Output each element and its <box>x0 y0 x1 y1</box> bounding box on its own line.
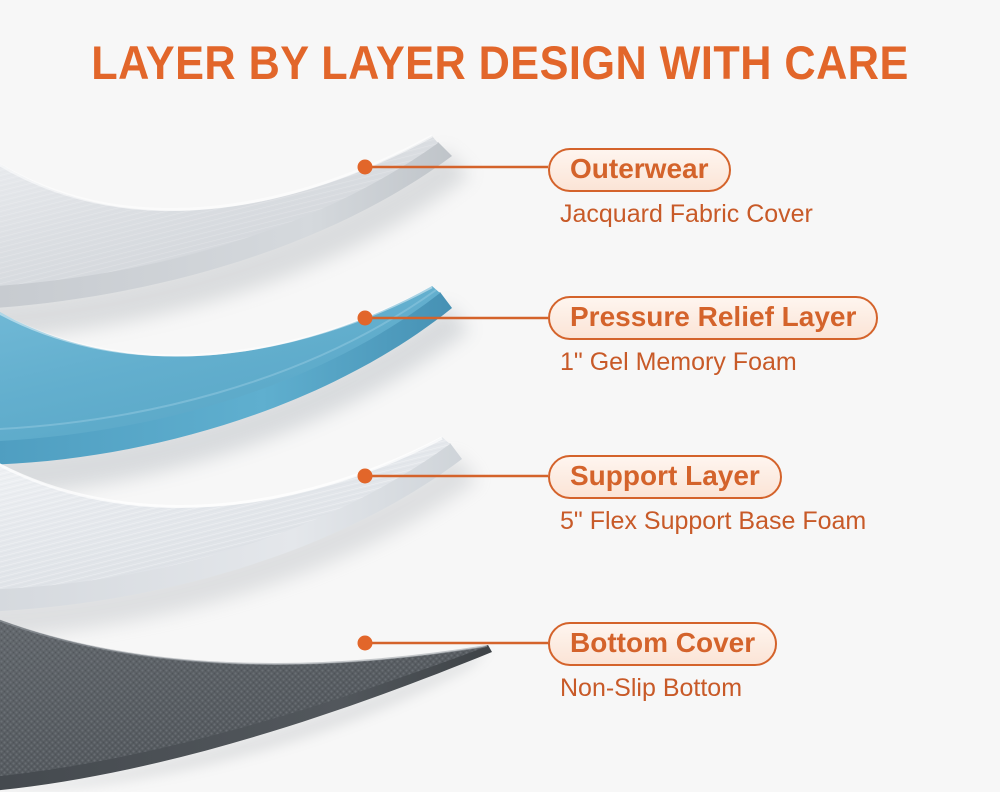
callout-bottom-cover: Bottom Cover Non-Slip Bottom <box>548 622 777 703</box>
leader-dot-4 <box>358 636 373 651</box>
callout-caption-pressure-relief-layer: 1" Gel Memory Foam <box>560 347 878 377</box>
callout-label-outerwear: Outerwear <box>548 148 731 192</box>
callout-caption-support-layer: 5" Flex Support Base Foam <box>560 506 866 536</box>
callout-caption-outerwear: Jacquard Fabric Cover <box>560 199 813 229</box>
non-slip-bottom-layer <box>0 612 492 792</box>
callout-label-pressure-relief-layer: Pressure Relief Layer <box>548 296 878 340</box>
callout-label-bottom-cover: Bottom Cover <box>548 622 777 666</box>
leader-lines <box>358 160 549 651</box>
leader-dot-1 <box>358 160 373 175</box>
mattress-layer-illustration <box>0 0 1000 792</box>
callout-pressure-relief-layer: Pressure Relief Layer 1" Gel Memory Foam <box>548 296 878 377</box>
leader-dot-2 <box>358 311 373 326</box>
callout-label-support-layer: Support Layer <box>548 455 782 499</box>
infographic-canvas: LAYER BY LAYER DESIGN WITH CARE <box>0 0 1000 792</box>
callout-outerwear: Outerwear Jacquard Fabric Cover <box>548 148 813 229</box>
callout-support-layer: Support Layer 5" Flex Support Base Foam <box>548 455 866 536</box>
leader-dot-3 <box>358 469 373 484</box>
callout-caption-bottom-cover: Non-Slip Bottom <box>560 673 777 703</box>
